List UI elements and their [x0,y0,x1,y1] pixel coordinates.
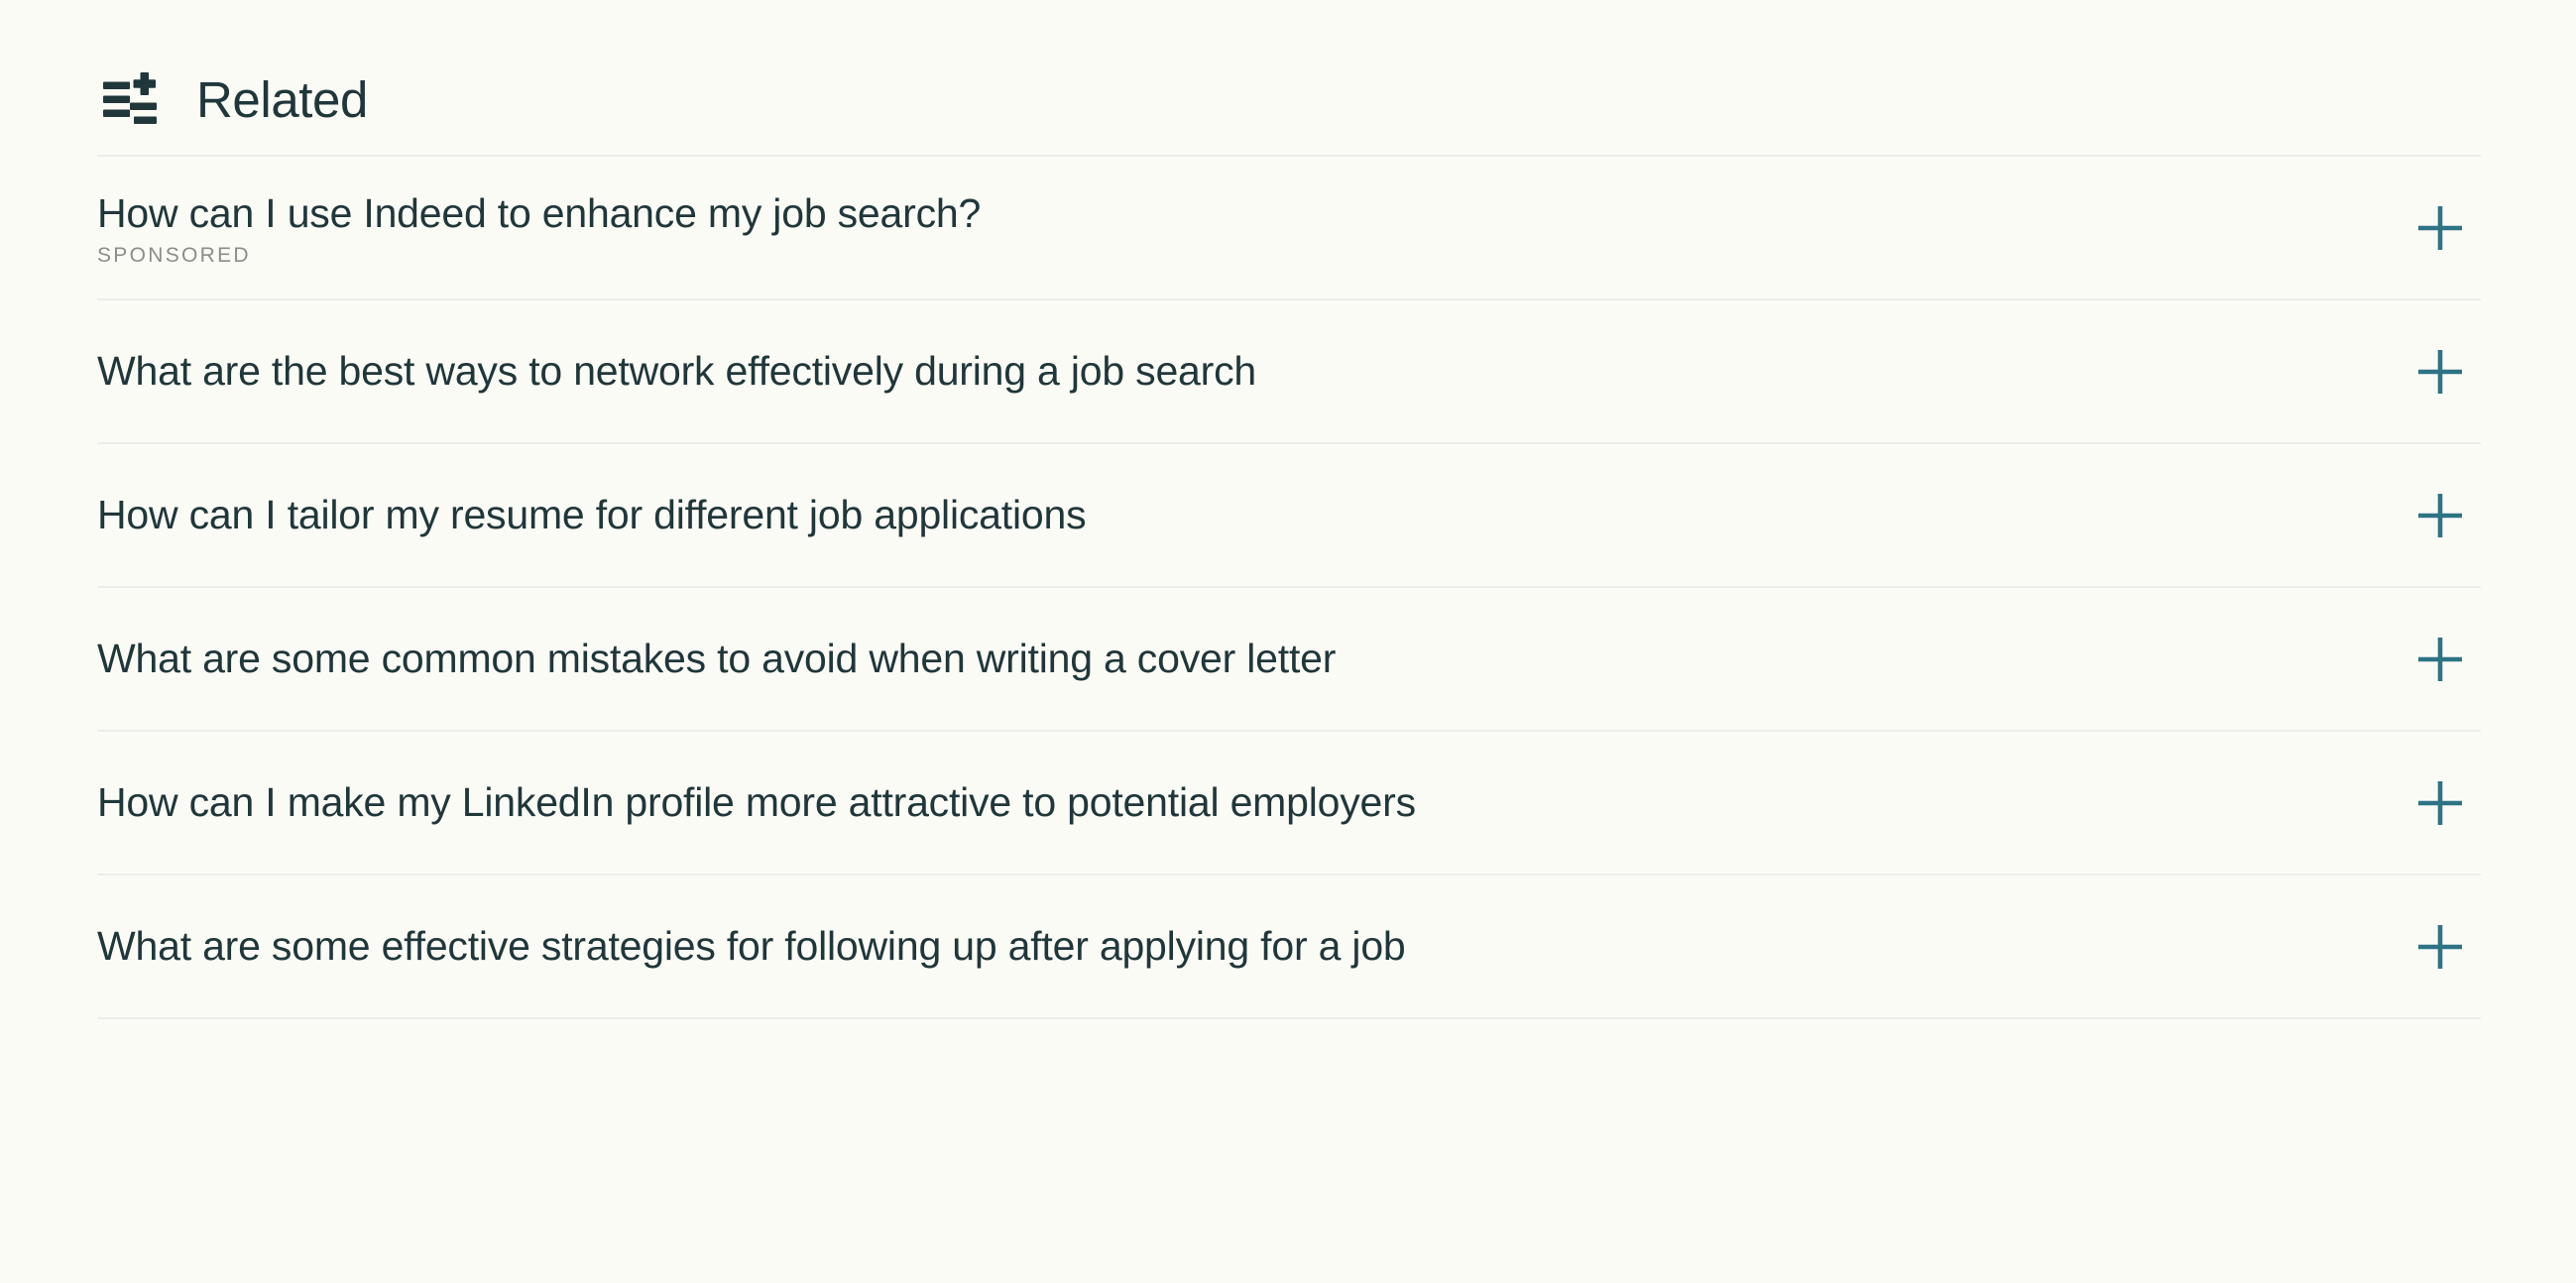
related-panel: Related How can I use Indeed to enhance … [97,44,2481,1019]
list-plus-icon [101,70,159,128]
plus-icon[interactable] [2409,629,2471,690]
list-item[interactable]: How can I make my LinkedIn profile more … [97,732,2481,875]
list-item-question: How can I tailor my resume for different… [97,491,1086,538]
list-item[interactable]: What are the best ways to network effect… [97,300,2481,444]
plus-icon[interactable] [2409,197,2471,259]
related-questions-page: Related How can I use Indeed to enhance … [0,0,2576,1283]
related-list: How can I use Indeed to enhance my job s… [97,155,2481,1019]
plus-icon[interactable] [2409,916,2471,978]
page-title: Related [196,74,368,125]
list-item-text: How can I use Indeed to enhance my job s… [97,189,1040,266]
list-item[interactable]: How can I tailor my resume for different… [97,444,2481,588]
list-item-question: What are some common mistakes to avoid w… [97,635,1336,682]
list-item[interactable]: What are some common mistakes to avoid w… [97,588,2481,732]
list-item-text: What are some effective strategies for f… [97,922,1465,970]
plus-icon[interactable] [2409,341,2471,403]
list-item[interactable]: What are some effective strategies for f… [97,875,2481,1019]
related-header: Related [97,44,2481,155]
list-item-question: How can I make my LinkedIn profile more … [97,778,1416,826]
plus-icon[interactable] [2409,485,2471,546]
list-item[interactable]: How can I use Indeed to enhance my job s… [97,157,2481,300]
list-item-text: How can I tailor my resume for different… [97,491,1145,538]
list-item-question: What are some effective strategies for f… [97,922,1406,970]
list-item-text: What are the best ways to network effect… [97,347,1316,395]
list-item-question: How can I use Indeed to enhance my job s… [97,189,981,237]
list-item-text: What are some common mistakes to avoid w… [97,635,1395,682]
plus-icon[interactable] [2409,772,2471,834]
list-item-question: What are the best ways to network effect… [97,347,1256,395]
list-item-text: How can I make my LinkedIn profile more … [97,778,1475,826]
sponsored-badge: SPONSORED [97,245,981,266]
